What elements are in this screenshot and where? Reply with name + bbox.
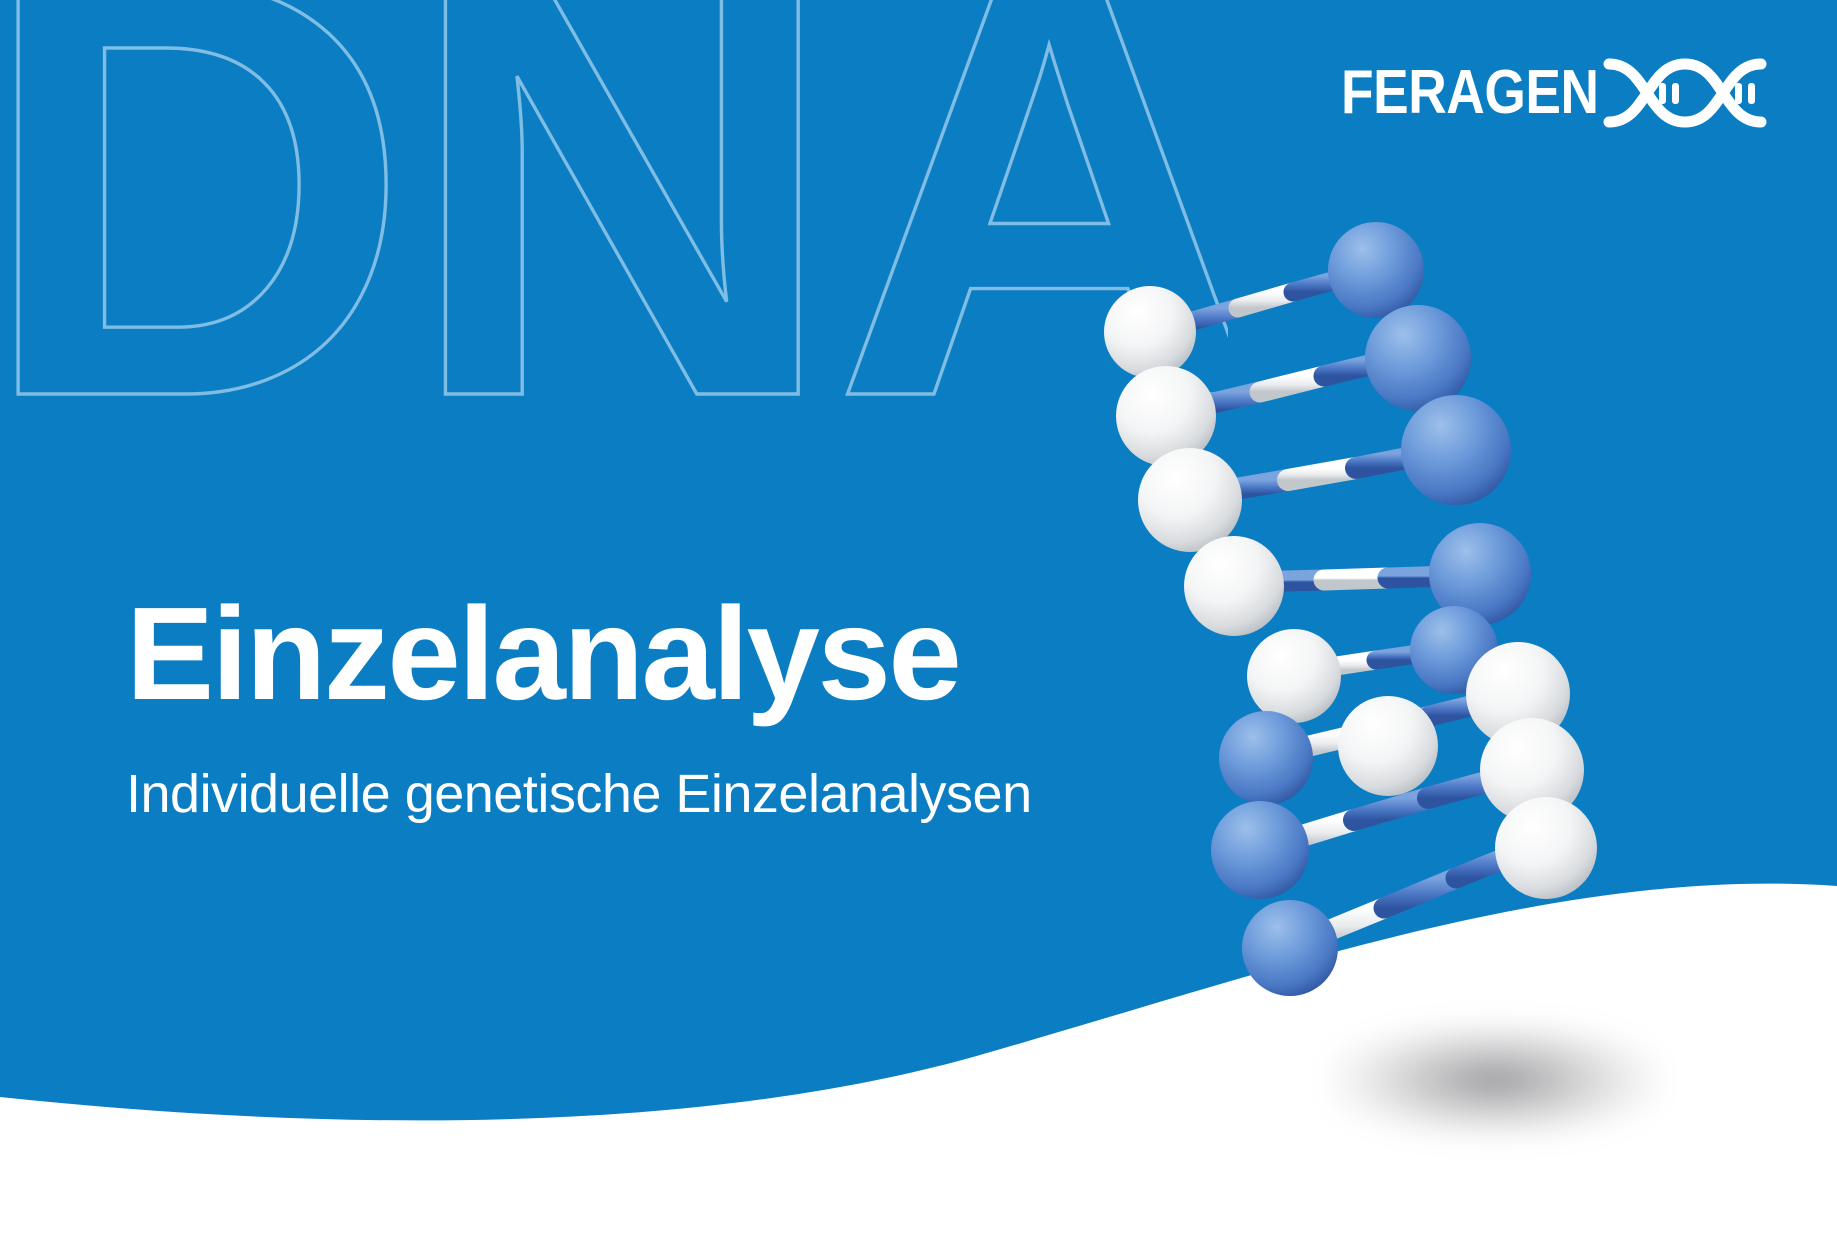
rung-8	[1306, 852, 1520, 940]
atom-sphere-blue	[1242, 900, 1338, 996]
atom-sphere-blue	[1401, 395, 1511, 505]
logo-wordmark: FERAGEN	[1341, 62, 1599, 124]
feragen-logo[interactable]: FERAGEN	[1299, 56, 1775, 130]
rung-1	[1168, 276, 1350, 328]
rung-2	[1184, 360, 1390, 410]
atom-sphere-blue	[1219, 711, 1313, 805]
dna-double-helix-icon	[1601, 56, 1775, 130]
atom-sphere-white	[1247, 629, 1341, 723]
atom-sphere-blue	[1328, 222, 1424, 318]
atom-sphere-white	[1495, 797, 1597, 899]
atom-sphere-white	[1184, 536, 1284, 636]
page-subtitle: Individuelle genetische Einzelanalysen	[126, 764, 1246, 824]
poster-canvas: DNA FERAGEN Einzelanalyse Individuelle g…	[0, 0, 1837, 1252]
atom-sphere-white	[1104, 286, 1196, 378]
atom-sphere-white	[1338, 696, 1438, 796]
hero-copy: Einzelanalyse Individuelle genetische Ei…	[126, 588, 1246, 824]
atom-sphere-blue	[1211, 801, 1309, 899]
atom-sphere-white	[1138, 448, 1242, 552]
page-title: Einzelanalyse	[126, 588, 1246, 720]
dna-double-helix-3d-model	[1088, 200, 1837, 1000]
